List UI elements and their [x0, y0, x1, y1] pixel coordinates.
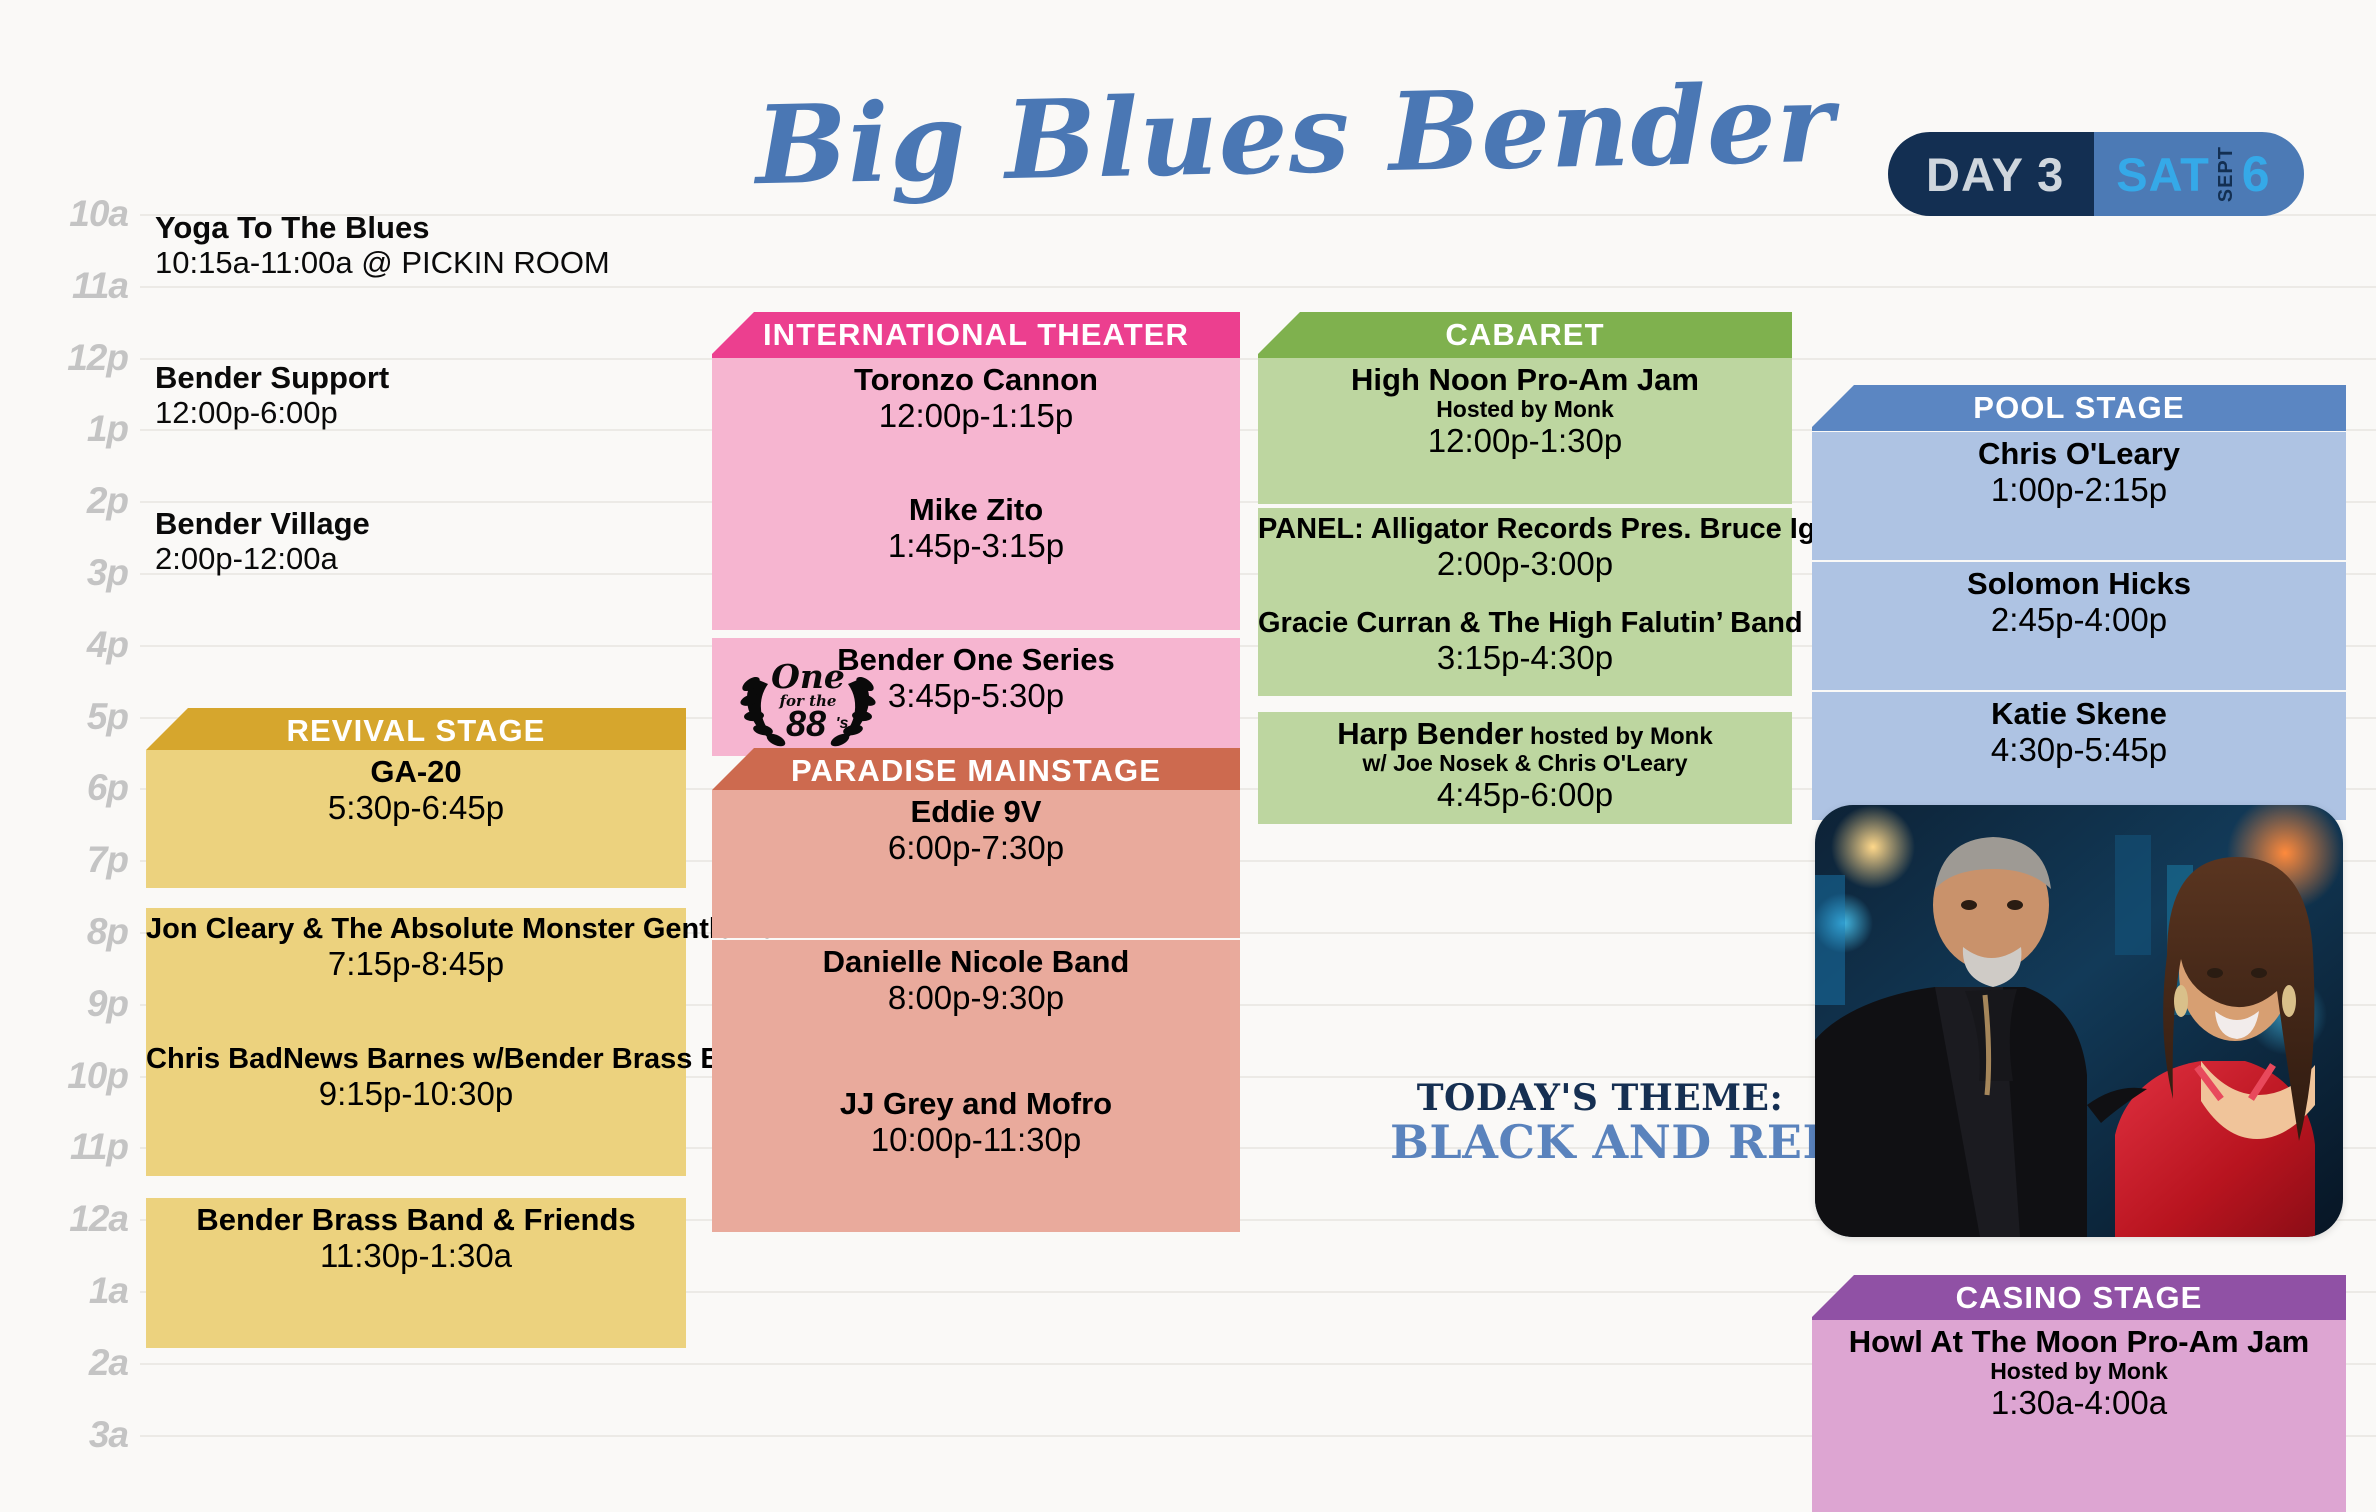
event-block[interactable]: JJ Grey and Mofro10:00p-11:30p	[712, 1082, 1240, 1232]
hour-label: 10p	[0, 1055, 128, 1097]
event-title: Danielle Nicole Band	[712, 946, 1240, 979]
event-block[interactable]: Toronzo Cannon12:00p-1:15p	[712, 358, 1240, 500]
one-for-the-88s-logo-icon: Onefor the88's	[724, 644, 892, 748]
event-block[interactable]: GA-205:30p-6:45p	[146, 750, 686, 888]
event-title: Chris O'Leary	[1812, 438, 2346, 471]
event-title: PANEL: Alligator Records Pres. Bruce Igl…	[1258, 514, 1792, 545]
event-block[interactable]: Mike Zito1:45p-3:15p	[712, 488, 1240, 630]
festival-logo: Big Blues Bender	[734, 66, 1856, 204]
hour-label: 7p	[0, 839, 128, 881]
day-badge-day: DAY 3	[1888, 132, 2094, 216]
event-title: Katie Skene	[1812, 698, 2346, 731]
stage-header-cabaret[interactable]: CABARET	[1258, 312, 1792, 358]
event-block[interactable]: Onefor the88'sBender One Series3:45p-5:3…	[712, 638, 1240, 756]
hour-label: 11p	[0, 1126, 128, 1168]
unbounded-event[interactable]: Bender Support12:00p-6:00p	[155, 362, 389, 430]
event-block[interactable]: High Noon Pro-Am JamHosted by Monk12:00p…	[1258, 358, 1792, 504]
event-block[interactable]: Jon Cleary & The Absolute Monster Gentle…	[146, 908, 686, 1046]
event-time: 2:00p-3:00p	[1258, 545, 1792, 584]
hour-label: 1a	[0, 1270, 128, 1312]
event-block[interactable]: Katie Skene4:30p-5:45p	[1812, 692, 2346, 820]
event-title: Harp Bender hosted by Monk	[1258, 718, 1792, 751]
hour-label: 5p	[0, 696, 128, 738]
event-title: Jon Cleary & The Absolute Monster Gentle…	[146, 914, 686, 945]
hour-label: 8p	[0, 911, 128, 953]
event-block[interactable]: Harp Bender hosted by Monkw/ Joe Nosek &…	[1258, 712, 1792, 824]
event-time: 9:15p-10:30p	[146, 1075, 686, 1114]
hour-label: 10a	[0, 193, 128, 235]
hour-label: 2a	[0, 1342, 128, 1384]
event-time: 6:00p-7:30p	[712, 829, 1240, 868]
todays-theme: TODAY'S THEME: BLACK AND RED NIGHT	[1390, 1080, 1810, 1167]
stage-header-international-theater[interactable]: INTERNATIONAL THEATER	[712, 312, 1240, 358]
svg-text:One: One	[771, 657, 845, 696]
event-time: 1:00p-2:15p	[1812, 471, 2346, 510]
day-badge-weekday: SAT	[2116, 147, 2210, 202]
event-time: 12:00p-6:00p	[155, 395, 389, 431]
theme-value: BLACK AND RED NIGHT	[1390, 1118, 1810, 1168]
stage-header-casino-stage[interactable]: CASINO STAGE	[1812, 1275, 2346, 1321]
day-badge-daynum: 6	[2242, 145, 2270, 203]
event-title: JJ Grey and Mofro	[712, 1088, 1240, 1121]
hour-label: 3p	[0, 552, 128, 594]
event-title: Yoga To The Blues	[155, 212, 610, 245]
hour-label: 6p	[0, 767, 128, 809]
event-title: Solomon Hicks	[1812, 568, 2346, 601]
event-time: 2:00p-12:00a	[155, 541, 370, 577]
event-title: Toronzo Cannon	[712, 364, 1240, 397]
event-time: 4:30p-5:45p	[1812, 731, 2346, 770]
event-block[interactable]: Solomon Hicks2:45p-4:00p	[1812, 562, 2346, 690]
event-block[interactable]: Eddie 9V6:00p-7:30p	[712, 790, 1240, 938]
couple-photo-illustration	[1815, 805, 2343, 1237]
hour-label: 11a	[0, 265, 128, 307]
stage-header-paradise-mainstage[interactable]: PARADISE MAINSTAGE	[712, 748, 1240, 794]
day-badge-month: SEPT	[2216, 146, 2236, 202]
hour-label: 3a	[0, 1414, 128, 1456]
event-block[interactable]: Danielle Nicole Band8:00p-9:30p	[712, 940, 1240, 1082]
event-title: Bender Support	[155, 362, 389, 395]
hour-label: 9p	[0, 983, 128, 1025]
event-time: 12:00p-1:15p	[712, 397, 1240, 436]
event-title: GA-20	[146, 756, 686, 789]
event-time: 10:15a-11:00a @ PICKIN ROOM	[155, 245, 610, 281]
event-time: 3:15p-4:30p	[1258, 639, 1792, 678]
event-time: 12:00p-1:30p	[1258, 422, 1792, 461]
hour-label: 12p	[0, 337, 128, 379]
event-subtitle: Hosted by Monk	[1258, 397, 1792, 422]
event-title-suffix: hosted by Monk	[1523, 723, 1712, 750]
event-subtitle: Hosted by Monk	[1812, 1359, 2346, 1384]
day-badge-date: SAT SEPT 6	[2094, 132, 2303, 216]
event-title: Eddie 9V	[712, 796, 1240, 829]
stage-header-revival-stage[interactable]: REVIVAL STAGE	[146, 708, 686, 754]
event-time: 4:45p-6:00p	[1258, 776, 1792, 815]
day-badge: DAY 3 SAT SEPT 6	[1888, 132, 2304, 216]
event-block[interactable]: Chris BadNews Barnes w/Bender Brass Band…	[146, 1038, 686, 1176]
event-title: High Noon Pro-Am Jam	[1258, 364, 1792, 397]
event-time: 5:30p-6:45p	[146, 789, 686, 828]
stage-header-pool-stage[interactable]: POOL STAGE	[1812, 385, 2346, 431]
event-title: Bender Village	[155, 508, 370, 541]
theme-label: TODAY'S THEME:	[1390, 1080, 1810, 1118]
event-block[interactable]: Gracie Curran & The High Falutin’ Band3:…	[1258, 602, 1792, 696]
event-time: 10:00p-11:30p	[712, 1121, 1240, 1160]
event-title: Chris BadNews Barnes w/Bender Brass Band	[146, 1044, 686, 1075]
event-time: 1:30a-4:00a	[1812, 1384, 2346, 1423]
event-title: Gracie Curran & The High Falutin’ Band	[1258, 608, 1792, 639]
theme-photo	[1815, 805, 2343, 1237]
hour-label: 12a	[0, 1198, 128, 1240]
event-time: 1:45p-3:15p	[712, 527, 1240, 566]
svg-text:'s: 's	[836, 715, 849, 732]
unbounded-event[interactable]: Bender Village2:00p-12:00a	[155, 508, 370, 576]
event-time: 8:00p-9:30p	[712, 979, 1240, 1018]
event-block[interactable]: Bender Brass Band & Friends11:30p-1:30a	[146, 1198, 686, 1348]
event-title: Howl At The Moon Pro-Am Jam	[1812, 1326, 2346, 1359]
event-block[interactable]: Howl At The Moon Pro-Am JamHosted by Mon…	[1812, 1320, 2346, 1512]
hour-gridline	[140, 286, 2376, 288]
event-title: Bender Brass Band & Friends	[146, 1204, 686, 1237]
hour-label: 2p	[0, 480, 128, 522]
unbounded-event[interactable]: Yoga To The Blues10:15a-11:00a @ PICKIN …	[155, 212, 610, 280]
event-subtitle: w/ Joe Nosek & Chris O'Leary	[1258, 751, 1792, 776]
hour-label: 1p	[0, 408, 128, 450]
event-title: Mike Zito	[712, 494, 1240, 527]
event-block[interactable]: Chris O'Leary1:00p-2:15p	[1812, 432, 2346, 560]
hour-label: 4p	[0, 624, 128, 666]
event-block[interactable]: PANEL: Alligator Records Pres. Bruce Igl…	[1258, 508, 1792, 610]
event-time: 7:15p-8:45p	[146, 945, 686, 984]
svg-text:88: 88	[786, 703, 826, 744]
event-time: 2:45p-4:00p	[1812, 601, 2346, 640]
event-time: 11:30p-1:30a	[146, 1237, 686, 1276]
